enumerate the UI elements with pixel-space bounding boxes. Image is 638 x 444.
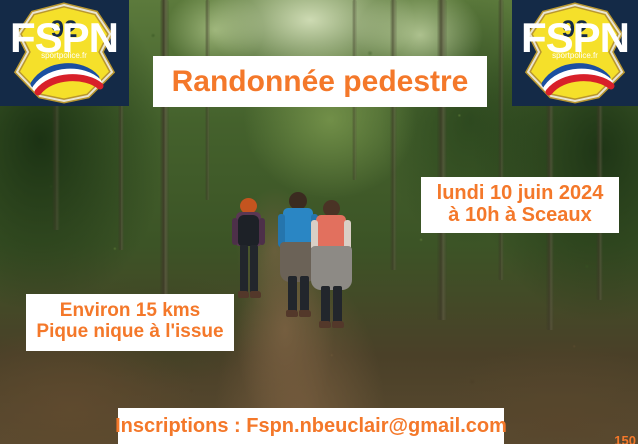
hiker-shoe — [286, 310, 298, 317]
poster-title: Randonnée pedestre — [153, 56, 487, 107]
hiker-skirt — [311, 246, 352, 290]
hiker-leg — [300, 276, 309, 312]
tree-trunk — [498, 0, 504, 280]
fspn-logo-left: 92 sportpolice.fr FSPN — [0, 0, 129, 106]
hiker-left — [232, 198, 272, 306]
event-date-plate: lundi 10 juin 2024 à 10h à Sceaux — [421, 177, 619, 233]
registration-email-text: Inscriptions : Fspn.nbeuclair@gmail.com — [115, 415, 507, 437]
hiker-leg — [240, 245, 248, 293]
event-picnic-line: Pique nique à l'issue — [26, 321, 234, 342]
hiker-right — [310, 200, 354, 330]
hiker-shoe — [250, 291, 261, 298]
hiker-shoe — [319, 321, 331, 328]
hiker-leg — [321, 286, 330, 324]
event-date-line: lundi 10 juin 2024 — [421, 182, 619, 204]
hiker-leg — [250, 245, 258, 293]
event-time-location-line: à 10h à Sceaux — [421, 204, 619, 226]
event-distance-plate: Environ 15 kms Pique nique à l'issue — [26, 294, 234, 351]
poster-title-text: Randonnée pedestre — [172, 65, 469, 99]
event-distance-line: Environ 15 kms — [26, 300, 234, 321]
hiker-shoe — [332, 321, 344, 328]
hiker-backpack — [238, 215, 259, 246]
logo-name: FSPN — [521, 14, 629, 61]
poster: 92 sportpolice.fr FSPN 92 sportpoli — [0, 0, 638, 444]
hiker-leg — [333, 286, 342, 324]
hiker-arm — [232, 218, 238, 245]
fspn-logo-right: 92 sportpolice.fr FSPN — [512, 0, 638, 106]
logo-name: FSPN — [10, 14, 118, 61]
hiker-torso — [283, 208, 313, 246]
corner-number: 150 — [614, 434, 636, 444]
tree-trunk — [437, 0, 447, 320]
hiker-arm — [259, 218, 265, 245]
hiker-leg — [288, 276, 297, 312]
tree-trunk — [390, 0, 397, 270]
tree-trunk — [160, 0, 169, 300]
hiker-shoe — [238, 291, 249, 298]
registration-plate: Inscriptions : Fspn.nbeuclair@gmail.com — [118, 408, 504, 444]
